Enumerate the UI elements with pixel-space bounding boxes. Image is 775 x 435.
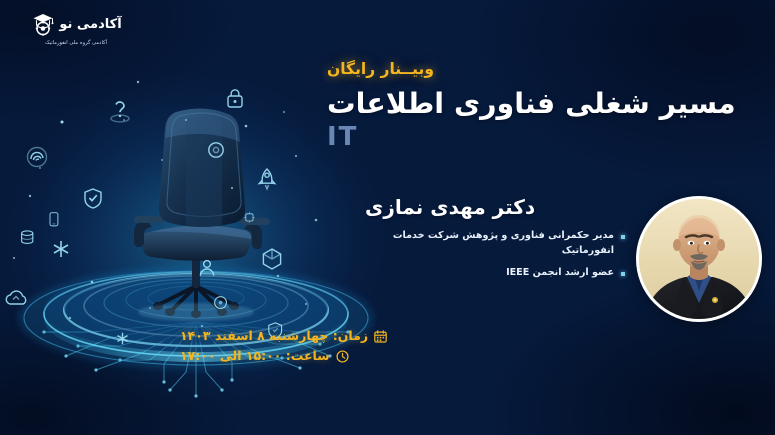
bullet-icon <box>621 235 625 239</box>
speaker-credentials: مدیر حکمرانی فناوری و پژوهش شرکت خدمات ا… <box>365 229 625 281</box>
calendar-icon <box>374 330 387 343</box>
brand-logo[interactable]: آکادمی نو آکادمی گر <box>15 9 137 46</box>
list-item: مدیر حکمرانی فناوری و پژوهش شرکت خدمات ا… <box>365 229 625 259</box>
speaker-name: دکتر مهدی نمازی <box>365 196 535 218</box>
bullet-icon <box>621 272 625 276</box>
headline-block: وبیــنار رایگان مسیر شغلی فناوری اطلاعات… <box>327 62 757 152</box>
event-meta: زمان: چهارشنبه ۸ اسفند ۱۴۰۳ ساعت: ۱۵:۰۰ … <box>180 330 600 370</box>
logo-row: آکادمی نو <box>15 9 137 39</box>
credential-text: مدیر حکمرانی فناوری و پژوهش شرکت خدمات ا… <box>393 230 614 256</box>
subtitle-it: IT <box>327 122 358 152</box>
speaker-block: دکتر مهدی نمازی مدیر حکمرانی فناوری و پژ… <box>365 196 625 288</box>
logo-wordmark: آکادمی نو <box>59 18 121 31</box>
event-date-text: زمان: چهارشنبه ۸ اسفند ۱۴۰۳ <box>180 330 368 343</box>
webinar-banner: آکادمی نو آکادمی گر <box>0 0 775 435</box>
avatar <box>636 196 762 322</box>
event-time-row: ساعت: ۱۵:۰۰ الی ۱۷:۰۰ <box>180 350 349 363</box>
graduation-cap-gear-icon <box>30 11 56 37</box>
kicker-free-webinar: وبیــنار رایگان <box>327 62 434 78</box>
event-time-text: ساعت: ۱۵:۰۰ الی ۱۷:۰۰ <box>180 350 330 363</box>
event-date-row: زمان: چهارشنبه ۸ اسفند ۱۴۰۳ <box>180 330 387 343</box>
clock-icon <box>336 350 349 363</box>
page-title: مسیر شغلی فناوری اطلاعات <box>327 87 736 120</box>
list-item: عضو ارشد انجمن IEEE <box>365 266 625 281</box>
logo-tagline: آکادمی گروه ملی انفورماتیک <box>15 40 137 46</box>
credential-text: عضو ارشد انجمن IEEE <box>506 267 614 278</box>
